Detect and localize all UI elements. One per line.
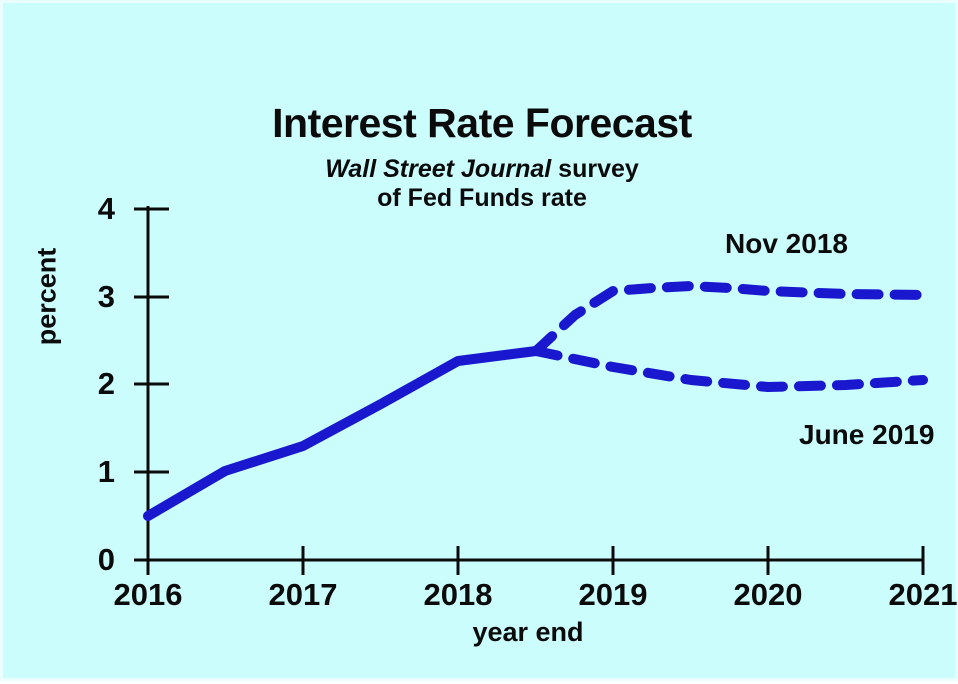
y-tick-label-1: 1 — [75, 456, 115, 487]
x-axis-label: year end — [348, 617, 708, 648]
series-nov-2018-line — [536, 286, 923, 351]
y-tick-label-2: 2 — [75, 368, 115, 399]
series-june-2019-line — [536, 351, 923, 387]
x-tick-label-2019: 2019 — [553, 579, 673, 610]
series-actual-line — [148, 351, 536, 516]
y-axis-label: percent — [32, 237, 63, 357]
x-tick-label-2020: 2020 — [708, 579, 828, 610]
y-tick-label-0: 0 — [75, 544, 115, 575]
page-title: Interest Rate Forecast — [182, 103, 782, 144]
chart-subtitle-line2: of Fed Funds rate — [377, 184, 587, 212]
chart-subtitle-rest: survey — [551, 155, 639, 183]
chart-figure: Interest Rate Forecast Wall Street Journ… — [0, 0, 958, 681]
x-tick-label-2016: 2016 — [88, 579, 208, 610]
y-tick-label-4: 4 — [75, 193, 115, 224]
y-tick-label-3: 3 — [75, 281, 115, 312]
x-tick-label-2021: 2021 — [863, 579, 958, 610]
x-tick-label-2017: 2017 — [243, 579, 363, 610]
series-label-nov-2018: Nov 2018 — [725, 228, 848, 260]
x-tick-label-2018: 2018 — [398, 579, 518, 610]
series-label-june-2019: June 2019 — [799, 419, 934, 451]
chart-subtitle: Wall Street Journal survey of Fed Funds … — [232, 155, 732, 214]
chart-subtitle-source: Wall Street Journal — [325, 155, 551, 183]
